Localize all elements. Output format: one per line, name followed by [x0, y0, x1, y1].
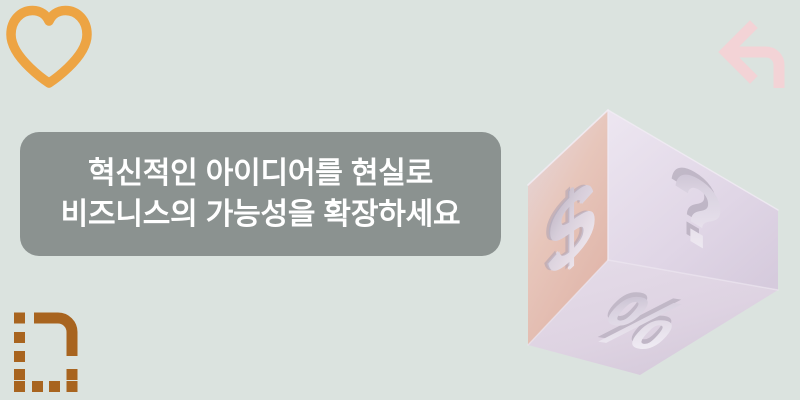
cube-face-question: ? ?	[608, 110, 778, 290]
dashed-square-bracket-icon	[8, 306, 94, 392]
heart-outline-icon	[2, 2, 98, 98]
headline-line-1: 혁신적인 아이디어를 현실로	[88, 153, 433, 194]
headline-banner: 혁신적인 아이디어를 현실로 비즈니스의 가능성을 확장하세요	[20, 132, 501, 256]
3d-symbol-cube: $ $ $ ? ? % %	[500, 78, 800, 378]
promo-banner: 혁신적인 아이디어를 현실로 비즈니스의 가능성을 확장하세요	[0, 0, 800, 400]
headline-line-2: 비즈니스의 가능성을 확장하세요	[61, 194, 461, 235]
